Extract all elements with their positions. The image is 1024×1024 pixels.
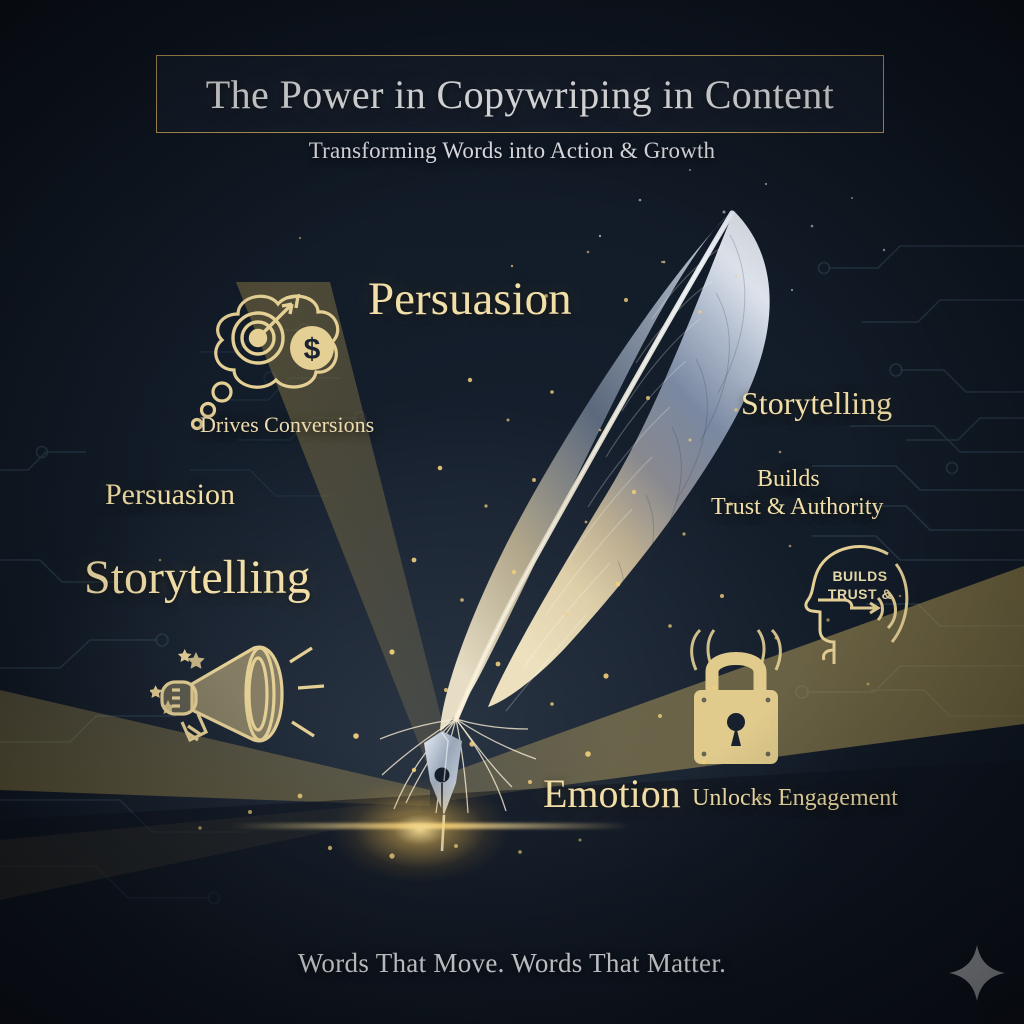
page-title: The Power in Copywriping in Content <box>206 71 834 118</box>
nib-light-streak <box>230 823 630 829</box>
head-brain-icon: BUILDS TRUST & <box>792 538 918 666</box>
svg-text:$: $ <box>304 333 321 366</box>
target-arrow-icon <box>233 296 298 363</box>
label-builds-trust: Builds Trust & Authority <box>757 465 884 522</box>
title-banner: The Power in Copywriping in Content <box>156 55 884 133</box>
label-builds-line2: Trust & Authority <box>711 493 884 521</box>
label-emotion: Emotion <box>543 770 681 817</box>
footer-tagline: Words That Move. Words That Matter. <box>0 948 1024 979</box>
label-persuasion-left: Persuasion <box>105 478 235 512</box>
label-storytelling-right: Storytelling <box>741 385 892 422</box>
poster-canvas: The Power in Copywriping in Content Tran… <box>0 0 1024 1024</box>
label-unlocks-engagement: Unlocks Engagement <box>692 785 898 812</box>
megaphone-icon <box>150 618 330 773</box>
label-drives-conversions: Drives Conversions <box>200 412 374 438</box>
four-point-sparkle-icon <box>946 942 1008 1004</box>
nib-glow <box>300 760 540 900</box>
head-icon-line1: BUILDS <box>832 568 887 584</box>
label-persuasion-main: Persuasion <box>368 272 572 326</box>
label-builds-line1: Builds <box>757 465 884 493</box>
padlock-icon <box>672 628 800 770</box>
head-icon-text: BUILDS TRUST & <box>818 568 902 603</box>
head-icon-line2: TRUST & <box>828 586 892 602</box>
dollar-coin-icon: $ <box>290 326 334 370</box>
page-subtitle: Transforming Words into Action & Growth <box>0 138 1024 164</box>
label-storytelling-left: Storytelling <box>84 550 311 605</box>
